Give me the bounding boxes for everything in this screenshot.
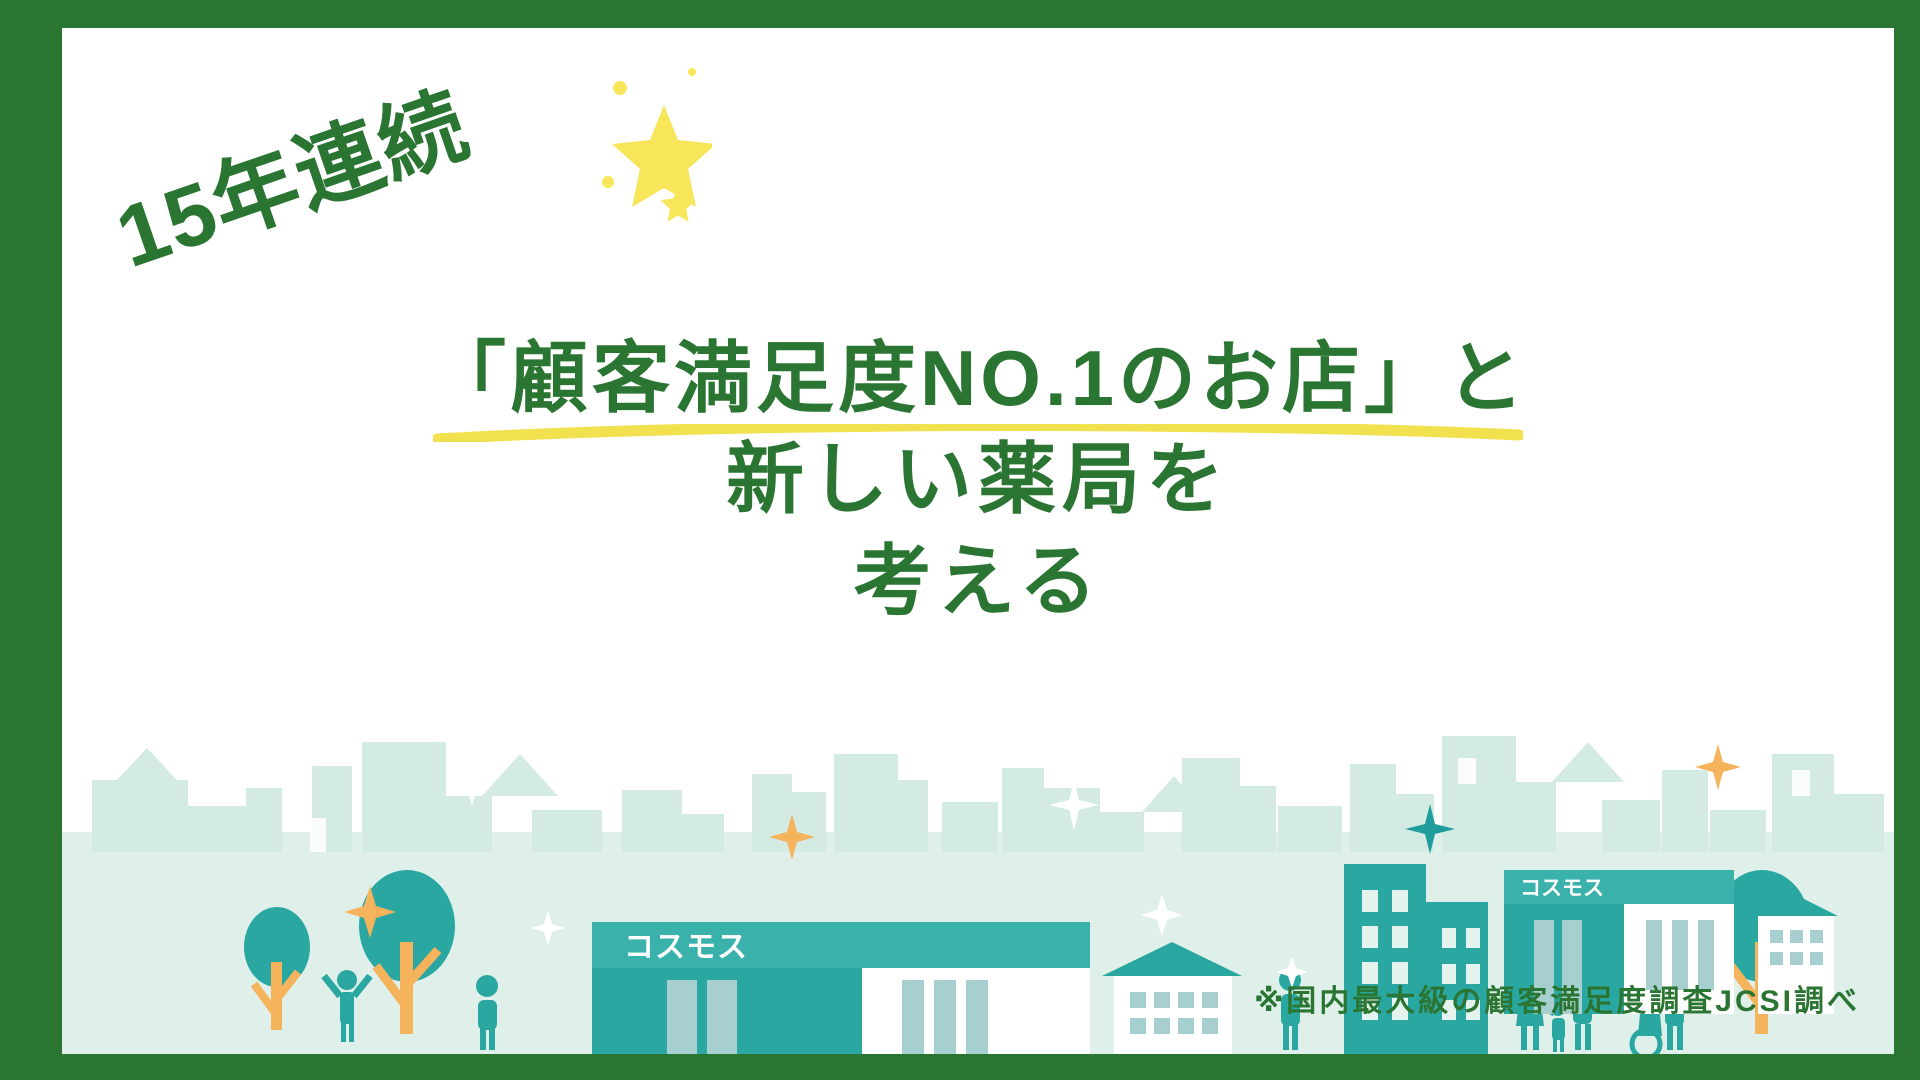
years-badge: 15年連続	[72, 50, 712, 280]
headline-line-3: 考える	[62, 531, 1894, 632]
headline-line-2: 新しい薬局を	[62, 429, 1894, 530]
cosmos-store-1: コスモス	[592, 922, 1090, 1054]
years-badge-label: 15年連続	[98, 55, 483, 292]
sparkle-stars-icon	[72, 50, 712, 280]
store-sign-label-1: コスモス	[624, 931, 748, 964]
headline-line-1: 「顧客満足度NO.1のお店」と	[62, 328, 1894, 429]
slide-root: 15年連続 「顧客満足度NO.1のお店」と 新しい薬局を 考える	[0, 0, 1920, 1080]
footnote-text: ※国内最大級の顧客満足度調査JCSI調べ	[1254, 976, 1860, 1020]
slide-canvas: 15年連続 「顧客満足度NO.1のお店」と 新しい薬局を 考える	[62, 28, 1894, 1054]
headline-block: 「顧客満足度NO.1のお店」と 新しい薬局を 考える	[62, 328, 1894, 632]
